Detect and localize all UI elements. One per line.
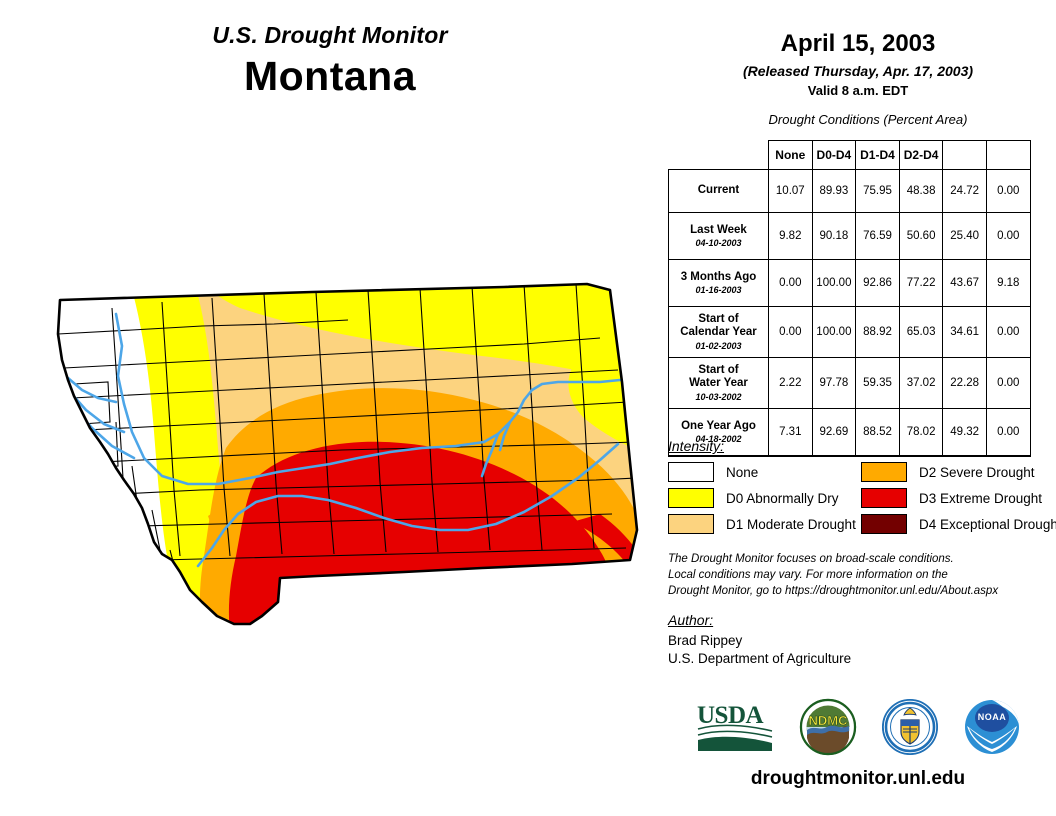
col-header-d4: D4 bbox=[986, 141, 1030, 170]
table-row: Current 10.07 89.93 75.95 48.38 24.72 0.… bbox=[669, 170, 1031, 213]
row-label-last-week: Last Week 04-10-2003 bbox=[669, 213, 769, 260]
row-label-3-months-ago: 3 Months Ago 01-16-2003 bbox=[669, 260, 769, 307]
map-panel: U.S. Drought Monitor Montana bbox=[0, 0, 660, 816]
author-name: Brad Rippey bbox=[668, 632, 1054, 650]
svg-text:NOAA: NOAA bbox=[978, 712, 1007, 722]
table-row: Last Week 04-10-2003 9.82 90.18 76.59 50… bbox=[669, 213, 1031, 260]
ndmc-logo[interactable]: NDMC bbox=[799, 698, 857, 761]
cell-current-none: 10.07 bbox=[769, 170, 813, 213]
cell-wateryear-d3: 22.28 bbox=[943, 358, 987, 409]
swatch-d0-icon bbox=[668, 488, 714, 508]
site-url[interactable]: droughtmonitor.unl.edu bbox=[660, 768, 1056, 790]
row-label-date: 01-16-2003 bbox=[671, 285, 766, 295]
table-row: Start ofCalendar Year 01-02-2003 0.00 10… bbox=[669, 307, 1031, 358]
legend-title: Intensity: bbox=[668, 438, 1054, 454]
usda-logo[interactable]: USDA bbox=[695, 699, 775, 760]
row-label-current: Current bbox=[669, 170, 769, 213]
cell-current-d1: 75.95 bbox=[856, 170, 900, 213]
noaa-logo[interactable]: NOAA bbox=[963, 698, 1021, 761]
cell-3months-none: 0.00 bbox=[769, 260, 813, 307]
author-title: Author: bbox=[668, 612, 1054, 628]
drought-bands bbox=[12, 272, 652, 652]
info-panel: April 15, 2003 (Released Thursday, Apr. … bbox=[660, 0, 1056, 816]
table-row: 3 Months Ago 01-16-2003 0.00 100.00 92.8… bbox=[669, 260, 1031, 307]
legend-item-d0: D0 Abnormally Dry bbox=[668, 486, 861, 510]
legend-item-none: None bbox=[668, 460, 861, 484]
cell-current-d4: 0.00 bbox=[986, 170, 1030, 213]
cell-lastweek-d1: 76.59 bbox=[856, 213, 900, 260]
cell-3months-d1: 92.86 bbox=[856, 260, 900, 307]
note-line-3[interactable]: Drought Monitor, go to https://droughtmo… bbox=[668, 584, 1054, 600]
cell-3months-d4: 9.18 bbox=[986, 260, 1030, 307]
cell-calyear-d4: 0.00 bbox=[986, 307, 1030, 358]
row-label-start-calendar-year: Start ofCalendar Year 01-02-2003 bbox=[669, 307, 769, 358]
cell-calyear-d1: 88.92 bbox=[856, 307, 900, 358]
legend-item-d2: D2 Severe Drought bbox=[861, 460, 1054, 484]
swatch-d1-icon bbox=[668, 514, 714, 534]
date-block: April 15, 2003 (Released Thursday, Apr. … bbox=[660, 0, 1056, 127]
cell-calyear-d2: 65.03 bbox=[899, 307, 943, 358]
swatch-none-icon bbox=[668, 462, 714, 482]
cell-wateryear-none: 2.22 bbox=[769, 358, 813, 409]
author-block: Author: Brad Rippey U.S. Department of A… bbox=[668, 612, 1054, 668]
partner-logos: USDA NDMC bbox=[660, 694, 1056, 764]
legend-item-d1: D1 Moderate Drought bbox=[668, 512, 861, 536]
legend-label-d0: D0 Abnormally Dry bbox=[726, 491, 839, 506]
cell-wateryear-d2: 37.02 bbox=[899, 358, 943, 409]
cell-current-d2: 48.38 bbox=[899, 170, 943, 213]
table-row: Start ofWater Year 10-03-2002 2.22 97.78… bbox=[669, 358, 1031, 409]
cell-lastweek-d2: 50.60 bbox=[899, 213, 943, 260]
legend-column-right: D2 Severe Drought D3 Extreme Drought D4 … bbox=[861, 460, 1054, 538]
cell-lastweek-d0: 90.18 bbox=[812, 213, 856, 260]
cell-3months-d0: 100.00 bbox=[812, 260, 856, 307]
note-line-1: The Drought Monitor focuses on broad-sca… bbox=[668, 552, 1054, 568]
row-label-text: Start ofWater Year bbox=[689, 364, 748, 389]
row-label-text: One Year Ago bbox=[681, 420, 756, 432]
col-header-d2: D2-D4 bbox=[899, 141, 943, 170]
legend-column-left: None D0 Abnormally Dry D1 Moderate Droug… bbox=[668, 460, 861, 538]
row-label-date: 10-03-2002 bbox=[671, 392, 766, 402]
col-header-d1: D1-D4 bbox=[856, 141, 900, 170]
map-svg[interactable] bbox=[12, 272, 652, 652]
cell-wateryear-d0: 97.78 bbox=[812, 358, 856, 409]
cell-current-d0: 89.93 bbox=[812, 170, 856, 213]
row-label-text: Current bbox=[698, 184, 740, 196]
swatch-d2-icon bbox=[861, 462, 907, 482]
legend-label-d2: D2 Severe Drought bbox=[919, 465, 1035, 480]
legend-item-d3: D3 Extreme Drought bbox=[861, 486, 1054, 510]
row-label-text: 3 Months Ago bbox=[681, 271, 757, 283]
swatch-d3-icon bbox=[861, 488, 907, 508]
row-label-text: Last Week bbox=[690, 224, 747, 236]
svg-text:NDMC: NDMC bbox=[809, 713, 849, 728]
cell-current-d3: 24.72 bbox=[943, 170, 987, 213]
release-date: (Released Thursday, Apr. 17, 2003) bbox=[660, 63, 1056, 79]
title-block: U.S. Drought Monitor Montana bbox=[0, 22, 660, 100]
report-date: April 15, 2003 bbox=[660, 30, 1056, 58]
cell-wateryear-d1: 59.35 bbox=[856, 358, 900, 409]
legend-label-none: None bbox=[726, 465, 758, 480]
valid-time: Valid 8 a.m. EDT bbox=[660, 83, 1056, 98]
drought-conditions-table: None D0-D4 D1-D4 D2-D4 D3-D4 D4 Current … bbox=[668, 140, 1040, 457]
col-header-d0: D0-D4 bbox=[812, 141, 856, 170]
col-header-d3: D3-D4 bbox=[943, 141, 987, 170]
row-label-text: Start ofCalendar Year bbox=[680, 313, 757, 338]
legend-label-d3: D3 Extreme Drought bbox=[919, 491, 1042, 506]
col-header-none: None bbox=[769, 141, 813, 170]
state-title: Montana bbox=[0, 53, 660, 100]
disclaimer-notes: The Drought Monitor focuses on broad-sca… bbox=[668, 552, 1054, 600]
legend-label-d4: D4 Exceptional Drought bbox=[919, 517, 1056, 532]
usdoc-logo[interactable] bbox=[881, 698, 939, 761]
table-corner-cell bbox=[669, 141, 769, 170]
montana-drought-map[interactable] bbox=[12, 272, 652, 652]
note-line-2: Local conditions may vary. For more info… bbox=[668, 568, 1054, 584]
cell-3months-d3: 43.67 bbox=[943, 260, 987, 307]
legend-label-d1: D1 Moderate Drought bbox=[726, 517, 856, 532]
intensity-legend: Intensity: None D0 Abnormally Dry D1 Mod… bbox=[668, 438, 1054, 538]
cell-lastweek-d3: 25.40 bbox=[943, 213, 987, 260]
row-label-date: 04-10-2003 bbox=[671, 238, 766, 248]
table-header-row: None D0-D4 D1-D4 D2-D4 D3-D4 D4 bbox=[669, 141, 1031, 170]
cell-lastweek-d4: 0.00 bbox=[986, 213, 1030, 260]
cell-lastweek-none: 9.82 bbox=[769, 213, 813, 260]
cell-calyear-d0: 100.00 bbox=[812, 307, 856, 358]
table-caption: Drought Conditions (Percent Area) bbox=[660, 112, 1056, 127]
cell-calyear-d3: 34.61 bbox=[943, 307, 987, 358]
row-label-date: 01-02-2003 bbox=[671, 341, 766, 351]
legend-item-d4: D4 Exceptional Drought bbox=[861, 512, 1054, 536]
row-label-start-water-year: Start ofWater Year 10-03-2002 bbox=[669, 358, 769, 409]
cell-calyear-none: 0.00 bbox=[769, 307, 813, 358]
cell-3months-d2: 77.22 bbox=[899, 260, 943, 307]
page-title: U.S. Drought Monitor bbox=[0, 22, 660, 49]
author-organization: U.S. Department of Agriculture bbox=[668, 650, 1054, 668]
cell-wateryear-d4: 0.00 bbox=[986, 358, 1030, 409]
swatch-d4-icon bbox=[861, 514, 907, 534]
